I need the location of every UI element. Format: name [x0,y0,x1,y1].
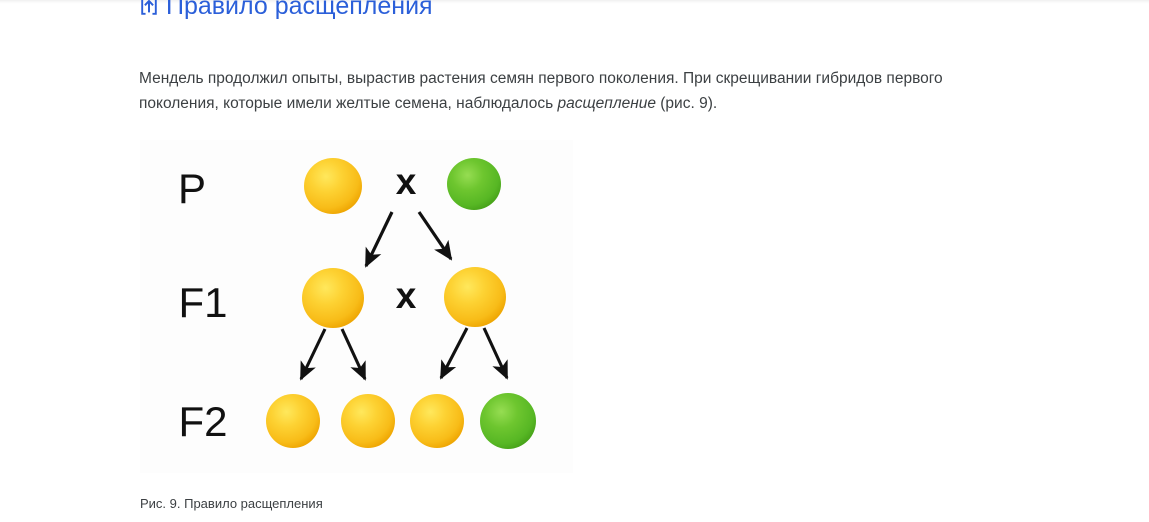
paragraph-part-2: (рис. 9). [656,95,717,112]
figure-splitting-rule: P F1 F2 x x [140,140,573,473]
cross-symbol-f1: x [396,275,417,316]
figure-image: P F1 F2 x x [140,140,573,473]
seed-f2-1 [266,394,320,448]
seed-p-yellow [304,158,362,214]
page-title-text: Правило расщепления [166,0,433,19]
seed-f2-3 [410,394,464,448]
paragraph-part-1: Мендель продолжил опыты, вырастив растен… [139,70,943,112]
page-title: Правило расщепления [139,0,1039,19]
figure-caption: Рис. 9. Правило расщепления [140,496,323,511]
cross-symbol-p: x [396,161,417,202]
generation-label-f2: F2 [178,398,227,445]
generation-label-f1: F1 [178,279,227,326]
body-paragraph: Мендель продолжил опыты, вырастив растен… [139,66,969,116]
seed-p-green [447,158,501,210]
paragraph-emphasis: расщепление [558,95,656,112]
seed-f2-4 [480,393,536,449]
anchor-link-up-arrow-icon[interactable] [139,0,159,17]
seed-f2-2 [341,394,395,448]
seed-f1-right [444,267,506,327]
seed-f1-left [302,268,364,328]
article-content: Правило расщепления Мендель продолжил оп… [139,0,1039,26]
generation-label-p: P [178,165,206,212]
